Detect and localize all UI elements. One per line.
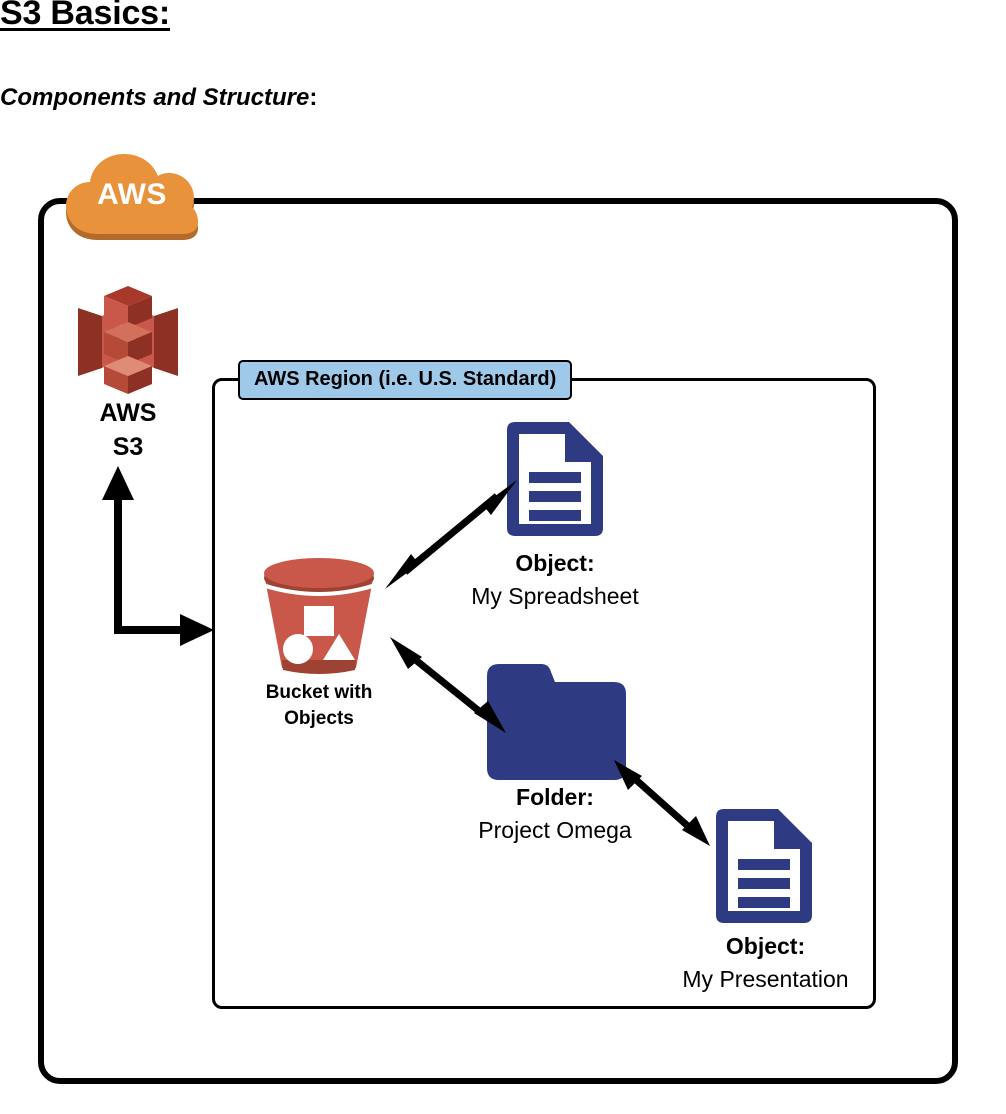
document-icon-presentation (712, 805, 816, 927)
connector-bucket-to-spreadsheet (385, 480, 520, 590)
bucket-label-line2: Objects (239, 706, 399, 732)
page-title: S3 Basics: (0, 0, 170, 33)
s3-bucket-icon (256, 556, 382, 678)
aws-cloud-badge: AWS (62, 152, 202, 246)
label-object-presentation: Object: My Presentation (648, 930, 883, 996)
aws-s3-label: AWS S3 (48, 396, 208, 464)
document-icon (712, 805, 816, 927)
bucket-label: Bucket with Objects (239, 680, 399, 732)
subtitle-colon: : (309, 84, 317, 111)
label-name: My Presentation (648, 963, 883, 996)
aws-s3-label-line1: AWS (48, 396, 208, 430)
label-kind: Object: (648, 930, 883, 963)
bucket-label-line1: Bucket with (239, 680, 399, 706)
s3-cubes-icon (72, 282, 184, 394)
cloud-icon (62, 152, 202, 246)
page-subtitle: Components and Structure: (0, 84, 317, 112)
bucket-icon (256, 556, 382, 678)
connector-s3-to-bucket (96, 466, 216, 646)
aws-s3-icon (72, 282, 184, 394)
subtitle-italic-text: Components and Structure (0, 84, 309, 111)
aws-s3-label-line2: S3 (48, 430, 208, 464)
connector-bucket-to-folder (388, 635, 508, 735)
connector-folder-to-presentation (612, 758, 712, 848)
aws-region-label: AWS Region (i.e. U.S. Standard) (238, 360, 572, 400)
elbow-arrow-icon (96, 466, 216, 646)
